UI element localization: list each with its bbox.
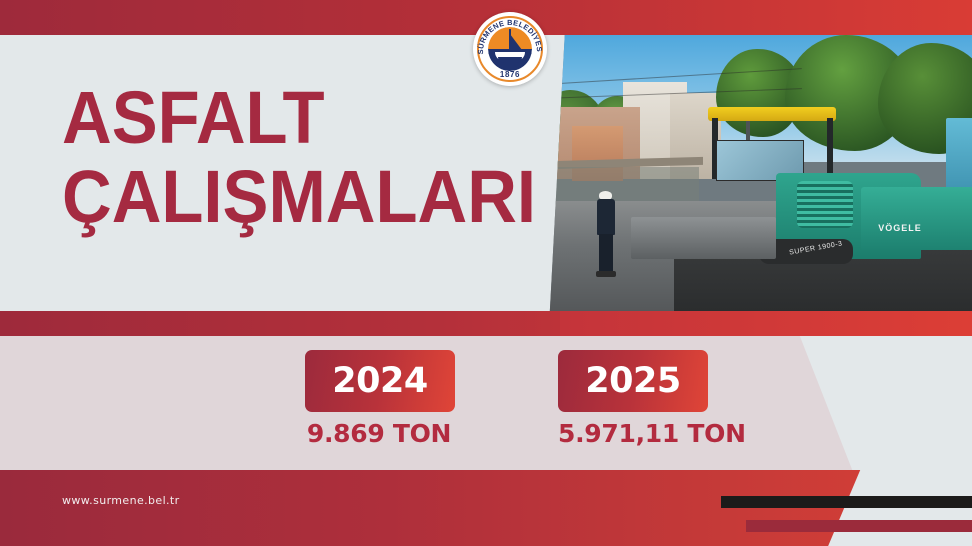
municipality-logo: SÜRMENE BELEDİYESİ 1876: [473, 12, 547, 86]
poster-canvas: VÖGELE SUPER 1900-3 SÜRMENE BELEDİYESİ 1…: [0, 0, 972, 546]
logo-emblem: [488, 27, 532, 71]
page-title-line-1: ASFALT: [62, 82, 536, 155]
stat-year-label-2025: 2025: [585, 364, 680, 399]
stat-value-2024: 9.869 TON: [303, 419, 455, 448]
photo-paver-canopy: [708, 107, 836, 121]
photo-worker-legs: [599, 234, 613, 273]
website-url[interactable]: www.surmene.bel.tr: [62, 494, 180, 507]
photo-machine-brand-label: VÖGELE: [878, 223, 922, 233]
logo-founded-year: 1876: [473, 70, 547, 79]
stat-card-2024: 2024 9.869 TON: [305, 350, 455, 448]
stat-year-badge-2024: 2024: [305, 350, 455, 412]
stat-value-2025: 5.971,11 TON: [558, 419, 746, 448]
stats-section: [0, 336, 972, 470]
stat-year-label-2024: 2024: [332, 364, 427, 399]
photo-dump-truck: [946, 118, 972, 195]
photo-worker-shoe: [596, 271, 616, 277]
logo-hull-navy: [498, 57, 522, 63]
divider-band-right: [560, 311, 972, 336]
photo-paver-post: [827, 118, 833, 179]
photo-worker-torso: [597, 199, 615, 235]
asphalt-paving-photo: VÖGELE SUPER 1900-3: [546, 35, 972, 311]
decorative-bar-crimson: [746, 520, 972, 532]
photo-paver-screed: [631, 217, 776, 258]
photo-paver-hopper: [861, 187, 972, 250]
decorative-bar-black: [721, 496, 972, 508]
logo-sail: [510, 34, 522, 50]
stat-card-2025: 2025 5.971,11 TON: [558, 350, 746, 448]
page-title: ASFALT ÇALIŞMALARI: [62, 82, 572, 233]
footer-band: [0, 470, 972, 546]
photo-paver-grill: [797, 181, 852, 228]
page-title-line-2: ÇALIŞMALARI: [62, 161, 536, 234]
stat-year-badge-2025: 2025: [558, 350, 708, 412]
